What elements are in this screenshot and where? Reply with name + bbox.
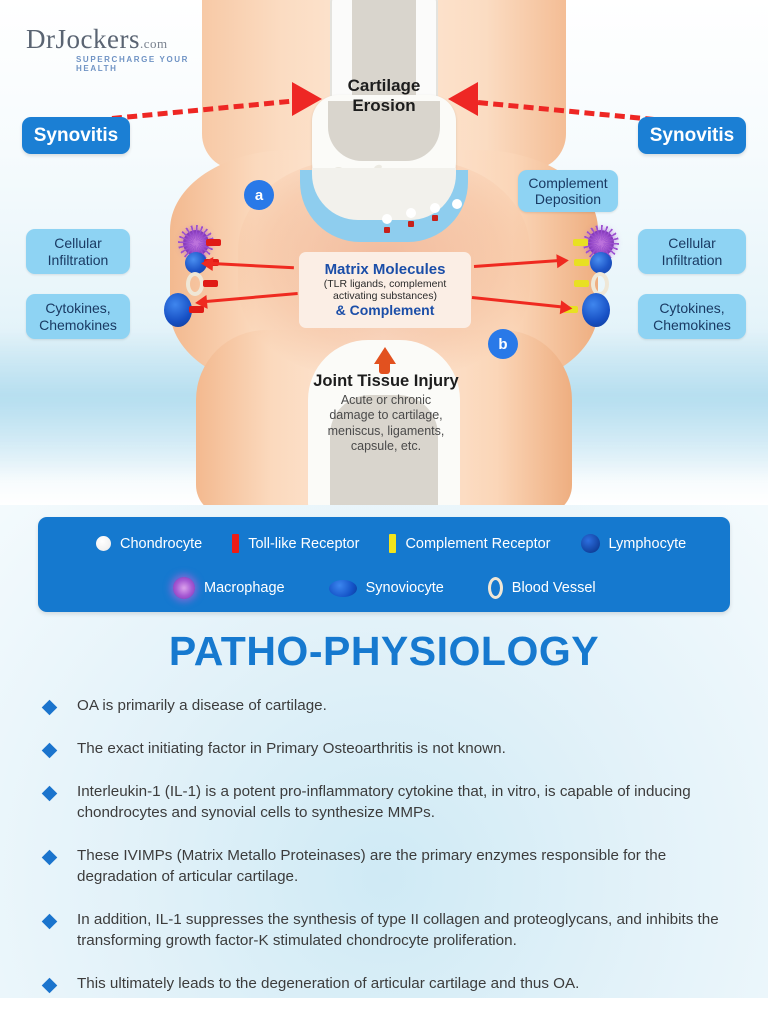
list-item: In addition, IL-1 suppresses the synthes…	[36, 910, 736, 952]
blood-vessel-glyph	[186, 272, 204, 296]
injury-line1: Acute or chronic	[296, 393, 476, 408]
injury-title: Joint Tissue Injury	[296, 372, 476, 390]
legend-item-toll-like-receptor[interactable]: Toll-like Receptor	[232, 534, 359, 553]
bullet-text: Interleukin-1 (IL-1) is a potent pro-inf…	[77, 782, 736, 824]
synoviocyte-glyph	[582, 293, 610, 327]
list-item: These IVIMPs (Matrix Metallo Proteinases…	[36, 846, 736, 888]
legend-item-synoviocyte[interactable]: Synoviocyte	[329, 580, 444, 597]
list-item: This ultimately leads to the degeneratio…	[36, 974, 736, 995]
toll-like-receptor-bar	[206, 239, 221, 246]
chondrocyte-icon	[96, 536, 111, 551]
legend-item-macrophage[interactable]: Macrophage	[173, 577, 285, 599]
list-item: The exact initiating factor in Primary O…	[36, 739, 736, 760]
legend-label-macrophage: Macrophage	[204, 580, 285, 596]
list-item: Interleukin-1 (IL-1) is a potent pro-inf…	[36, 782, 736, 824]
legend-panel: Chondrocyte Toll-like Receptor Complemen…	[38, 517, 730, 612]
diamond-bullet-icon	[42, 700, 58, 716]
legend-row-1: Chondrocyte Toll-like Receptor Complemen…	[38, 534, 730, 553]
bullet-list: OA is primarily a disease of cartilage. …	[36, 696, 736, 1017]
lymphocyte-glyph	[590, 252, 612, 274]
legend-label-chondrocyte: Chondrocyte	[120, 536, 202, 552]
diamond-bullet-icon	[42, 914, 58, 930]
infographic-page: Cartilage Erosion Matrix Molecules (TLR …	[0, 0, 768, 998]
label-complement-deposition[interactable]: Complement Deposition	[518, 170, 618, 212]
legend-label-synoviocyte: Synoviocyte	[366, 580, 444, 596]
joint-tissue-injury-box: Joint Tissue Injury Acute or chronic dam…	[296, 372, 476, 454]
matrix-subtitle-line2: activating substances)	[333, 290, 437, 302]
brand-suffix: .com	[140, 36, 168, 51]
macrophage-icon	[173, 577, 195, 599]
injury-line3: meniscus, ligaments,	[296, 424, 476, 439]
bullet-text: The exact initiating factor in Primary O…	[77, 739, 506, 760]
legend-label-complement-receptor: Complement Receptor	[405, 536, 550, 552]
injury-line4: capsule, etc.	[296, 439, 476, 454]
complement-receptor-bar	[574, 280, 589, 287]
chondrocyte-particle	[430, 203, 440, 213]
diamond-bullet-icon	[42, 743, 58, 759]
blood-vessel-icon	[488, 577, 503, 599]
page-title: PATHO-PHYSIOLOGY	[0, 628, 768, 675]
matrix-subtitle-line1: (TLR ligands, complement	[324, 278, 447, 290]
cartilage-erosion-line1: Cartilage	[318, 76, 450, 96]
diamond-bullet-icon	[42, 850, 58, 866]
diamond-bullet-icon	[42, 786, 58, 802]
cartilage-erosion-label: Cartilage Erosion	[318, 76, 450, 116]
matrix-footer: & Complement	[336, 303, 435, 318]
legend-label-lymphocyte: Lymphocyte	[609, 536, 687, 552]
legend-item-lymphocyte[interactable]: Lymphocyte	[581, 534, 687, 553]
lymphocyte-icon	[581, 534, 600, 553]
toll-like-receptor-dot	[432, 215, 438, 221]
complement-receptor-icon	[389, 534, 396, 553]
cartilage-erosion-line2: Erosion	[318, 96, 450, 116]
joint-illustration: Cartilage Erosion Matrix Molecules (TLR …	[0, 0, 768, 505]
matrix-molecules-box: Matrix Molecules (TLR ligands, complemen…	[299, 252, 471, 328]
toll-like-receptor-icon	[232, 534, 239, 553]
legend-item-chondrocyte[interactable]: Chondrocyte	[96, 536, 202, 552]
complement-receptor-bar	[573, 239, 588, 246]
label-cytokines-right[interactable]: Cytokines, Chemokines	[638, 294, 746, 339]
diamond-bullet-icon	[42, 977, 58, 993]
complement-receptor-bar	[574, 259, 589, 266]
toll-like-receptor-dot	[384, 227, 390, 233]
brand-logo[interactable]: DrJockers.com SUPERCHARGE YOUR HEALTH	[26, 26, 216, 73]
legend-item-blood-vessel[interactable]: Blood Vessel	[488, 577, 596, 599]
matrix-title: Matrix Molecules	[325, 262, 446, 278]
marker-b[interactable]: b	[488, 329, 518, 359]
chondrocyte-particle	[382, 214, 392, 224]
legend-label-toll-like-receptor: Toll-like Receptor	[248, 536, 359, 552]
bullet-text: This ultimately leads to the degeneratio…	[77, 974, 579, 995]
label-cellular-infiltration-right[interactable]: Cellular Infiltration	[638, 229, 746, 274]
list-item: OA is primarily a disease of cartilage.	[36, 696, 736, 717]
toll-like-receptor-bar	[203, 280, 218, 287]
legend-label-blood-vessel: Blood Vessel	[512, 580, 596, 596]
legend-row-2: Macrophage Synoviocyte Blood Vessel	[38, 577, 730, 599]
synoviocyte-glyph	[164, 293, 192, 327]
injury-line2: damage to cartilage,	[296, 408, 476, 423]
toll-like-receptor-dot	[408, 221, 414, 227]
legend-item-complement-receptor[interactable]: Complement Receptor	[389, 534, 550, 553]
bullet-text: OA is primarily a disease of cartilage.	[77, 696, 327, 717]
arrow-right-icon	[448, 82, 478, 116]
label-synovitis-right[interactable]: Synovitis	[638, 117, 746, 154]
label-cellular-infiltration-left[interactable]: Cellular Infiltration	[26, 229, 130, 274]
chondrocyte-particle	[452, 199, 462, 209]
marker-a[interactable]: a	[244, 180, 274, 210]
synoviocyte-icon	[329, 580, 357, 597]
chondrocyte-particle	[406, 208, 416, 218]
brand-name: DrJockers	[26, 24, 140, 54]
bullet-text: In addition, IL-1 suppresses the synthes…	[77, 910, 736, 952]
label-synovitis-left[interactable]: Synovitis	[22, 117, 130, 154]
brand-tagline: SUPERCHARGE YOUR HEALTH	[26, 55, 216, 73]
bullet-text: These IVIMPs (Matrix Metallo Proteinases…	[77, 846, 736, 888]
label-cytokines-left[interactable]: Cytokines, Chemokines	[26, 294, 130, 339]
